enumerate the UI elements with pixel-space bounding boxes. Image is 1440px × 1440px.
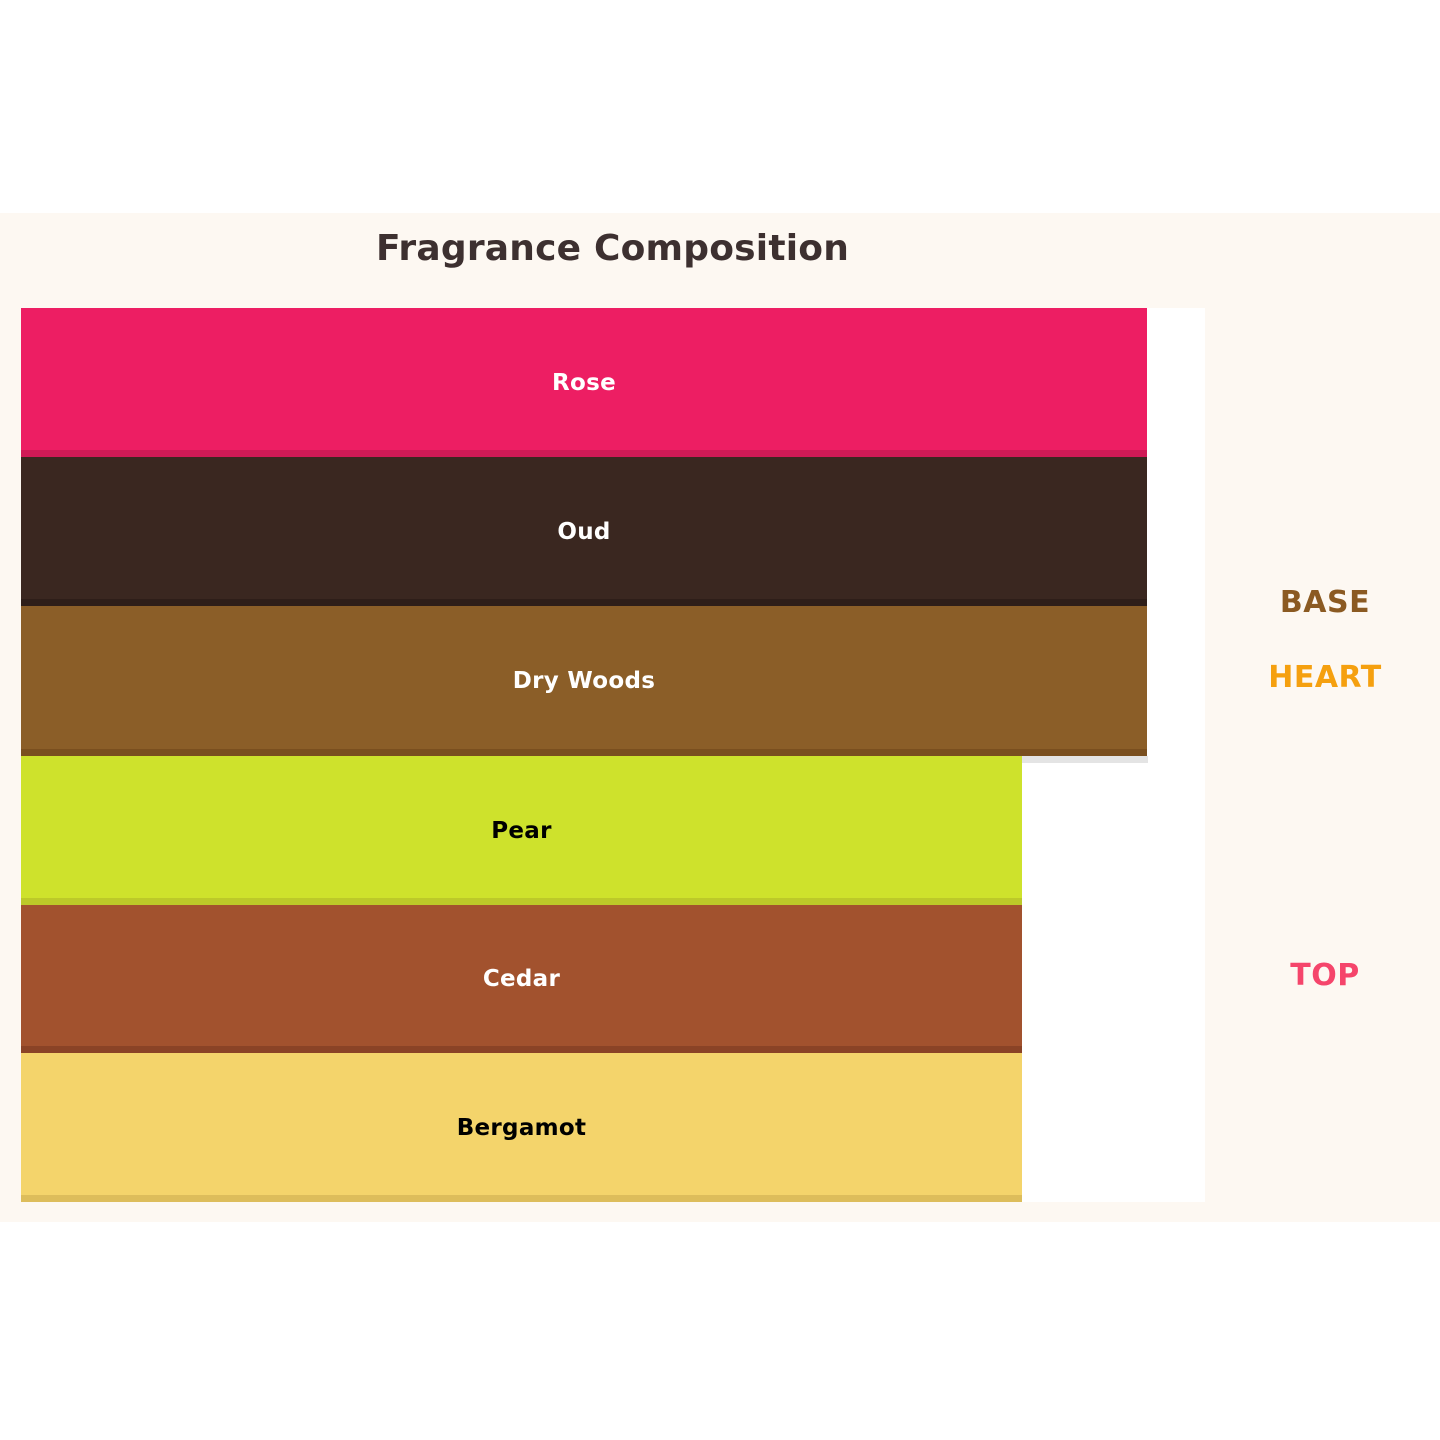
bar-label: Bergamot [457,1115,587,1141]
stage-label-base: BASE [1210,585,1440,620]
bar-rose[interactable]: Rose [21,308,1147,457]
stage-label-heart: HEART [1210,660,1440,695]
bar-label: Cedar [483,966,560,992]
bar-label: Dry Woods [513,668,655,694]
bar-edge [21,599,1147,606]
bar-bergamot[interactable]: Bergamot [21,1053,1022,1202]
page-title: Fragrance Composition [0,228,1225,269]
chart-canvas: Fragrance Composition RoseOudDry WoodsPe… [0,0,1440,1440]
stage-label-top: TOP [1210,958,1440,993]
bar-label: Oud [557,519,610,545]
bar-edge [21,749,1147,756]
bar-edge [21,1195,1022,1202]
bar-pear[interactable]: Pear [21,756,1022,905]
bar-edge [21,898,1022,905]
bar-edge [21,1046,1022,1053]
bar-oud[interactable]: Oud [21,457,1147,606]
bar-label: Pear [491,818,552,844]
bar-label: Rose [552,370,616,396]
bar-cedar[interactable]: Cedar [21,905,1022,1053]
bar-row-separator [1022,756,1148,763]
plot-area: RoseOudDry WoodsPearCedarBergamot [21,308,1205,1202]
bar-dry-woods[interactable]: Dry Woods [21,606,1147,756]
bar-edge [21,450,1147,457]
